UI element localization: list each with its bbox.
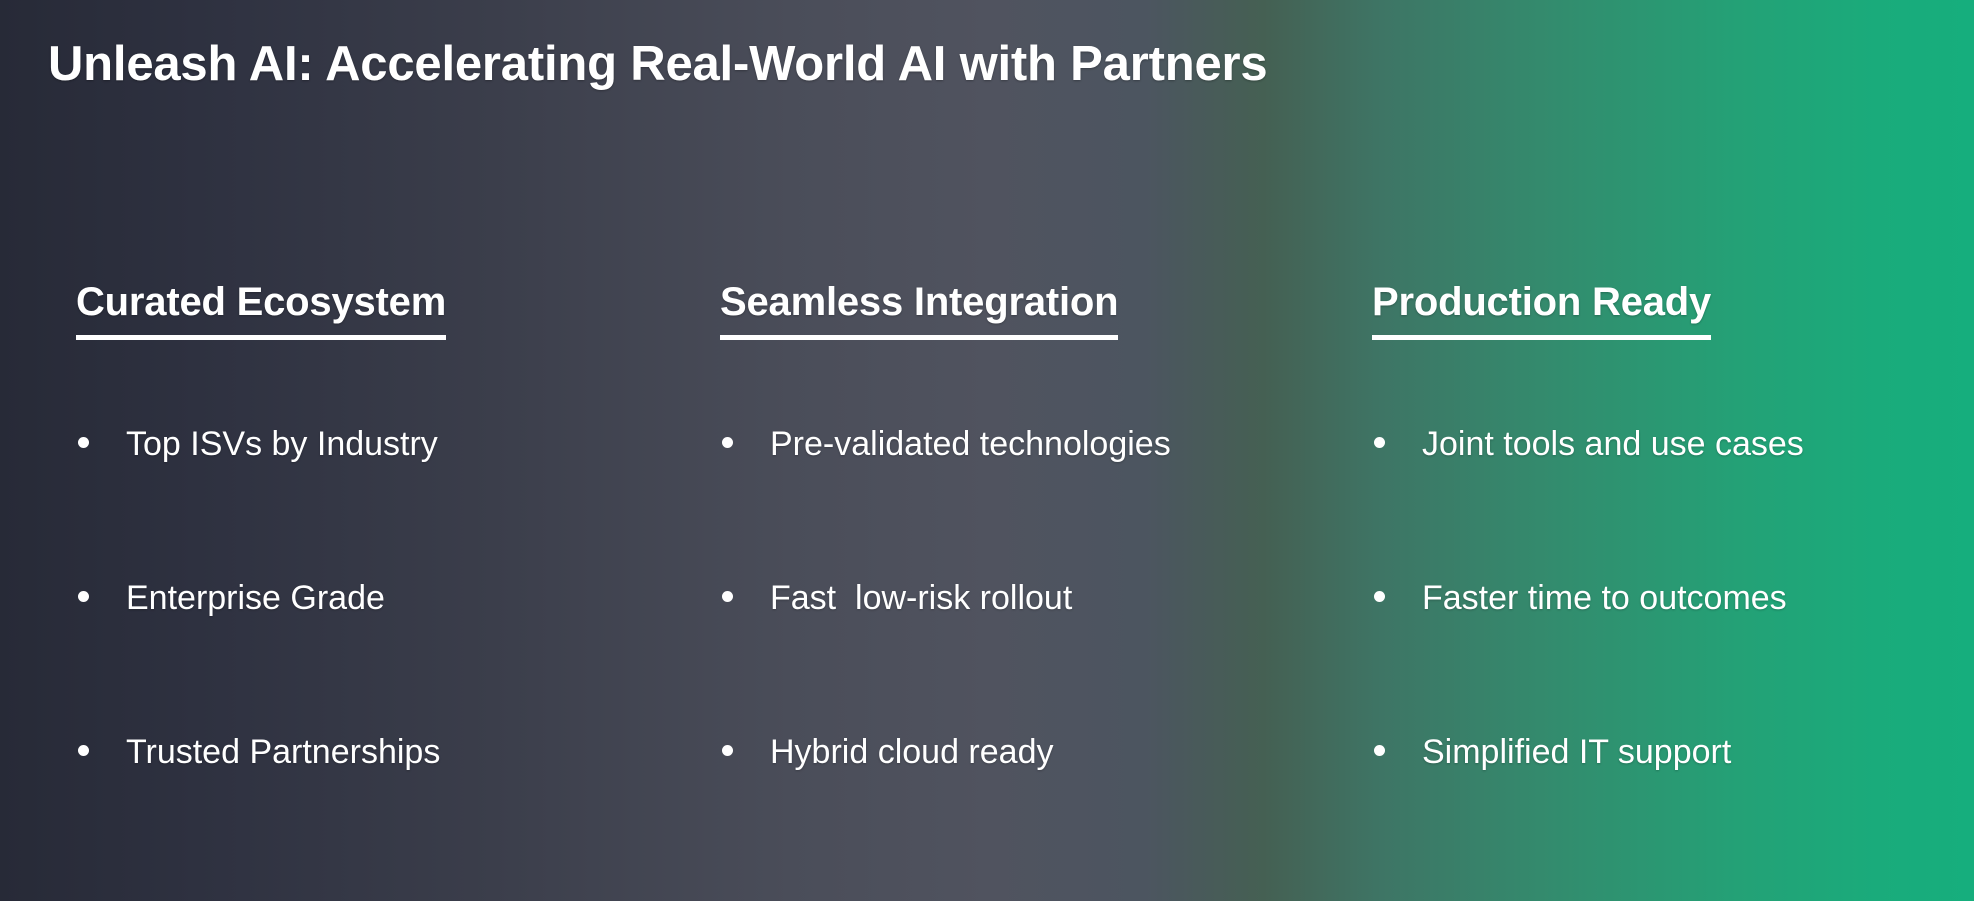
bullet-dot-icon	[1374, 437, 1385, 448]
list-item-label: Joint tools and use cases	[1422, 424, 1804, 464]
bullet-dot-icon	[1374, 591, 1385, 602]
bullet-dot-icon	[722, 745, 733, 756]
bullet-dot-icon	[78, 745, 89, 756]
list-item-label: Pre-validated technologies	[770, 424, 1171, 464]
column-heading-3: Production Ready	[1372, 280, 1711, 340]
bullet-list-1: Top ISVs by Industry Enterprise Grade Tr…	[76, 424, 676, 886]
list-item-label: Top ISVs by Industry	[126, 424, 438, 464]
list-item-label: Trusted Partnerships	[126, 732, 440, 772]
content-column-production-ready: Production Ready Joint tools and use cas…	[1372, 280, 1952, 886]
list-item-label: Faster time to outcomes	[1422, 578, 1787, 618]
presentation-slide: Unleash AI: Accelerating Real-World AI w…	[0, 0, 1974, 901]
bullet-dot-icon	[1374, 745, 1385, 756]
list-item: Pre-validated technologies	[720, 424, 1320, 578]
bullet-dot-icon	[78, 437, 89, 448]
list-item: Faster time to outcomes	[1372, 578, 1952, 732]
list-item: Fast low-risk rollout	[720, 578, 1320, 732]
bullet-dot-icon	[722, 591, 733, 602]
list-item-label: Simplified IT support	[1422, 732, 1731, 772]
column-heading-1: Curated Ecosystem	[76, 280, 446, 340]
list-item: Top ISVs by Industry	[76, 424, 676, 578]
bullet-list-2: Pre-validated technologies Fast low-risk…	[720, 424, 1320, 886]
list-item: Joint tools and use cases	[1372, 424, 1952, 578]
content-column-seamless-integration: Seamless Integration Pre-validated techn…	[720, 280, 1320, 886]
bullet-dot-icon	[78, 591, 89, 602]
list-item-label: Enterprise Grade	[126, 578, 385, 618]
bullet-dot-icon	[722, 437, 733, 448]
list-item: Simplified IT support	[1372, 732, 1952, 886]
list-item: Enterprise Grade	[76, 578, 676, 732]
three-column-content: Curated Ecosystem Top ISVs by Industry E…	[0, 280, 1974, 840]
bullet-list-3: Joint tools and use cases Faster time to…	[1372, 424, 1952, 886]
list-item-label: Fast low-risk rollout	[770, 578, 1072, 618]
page-title: Unleash AI: Accelerating Real-World AI w…	[48, 36, 1267, 92]
column-heading-2: Seamless Integration	[720, 280, 1118, 340]
list-item-label: Hybrid cloud ready	[770, 732, 1053, 772]
list-item: Trusted Partnerships	[76, 732, 676, 886]
list-item: Hybrid cloud ready	[720, 732, 1320, 886]
content-column-curated-ecosystem: Curated Ecosystem Top ISVs by Industry E…	[76, 280, 676, 886]
